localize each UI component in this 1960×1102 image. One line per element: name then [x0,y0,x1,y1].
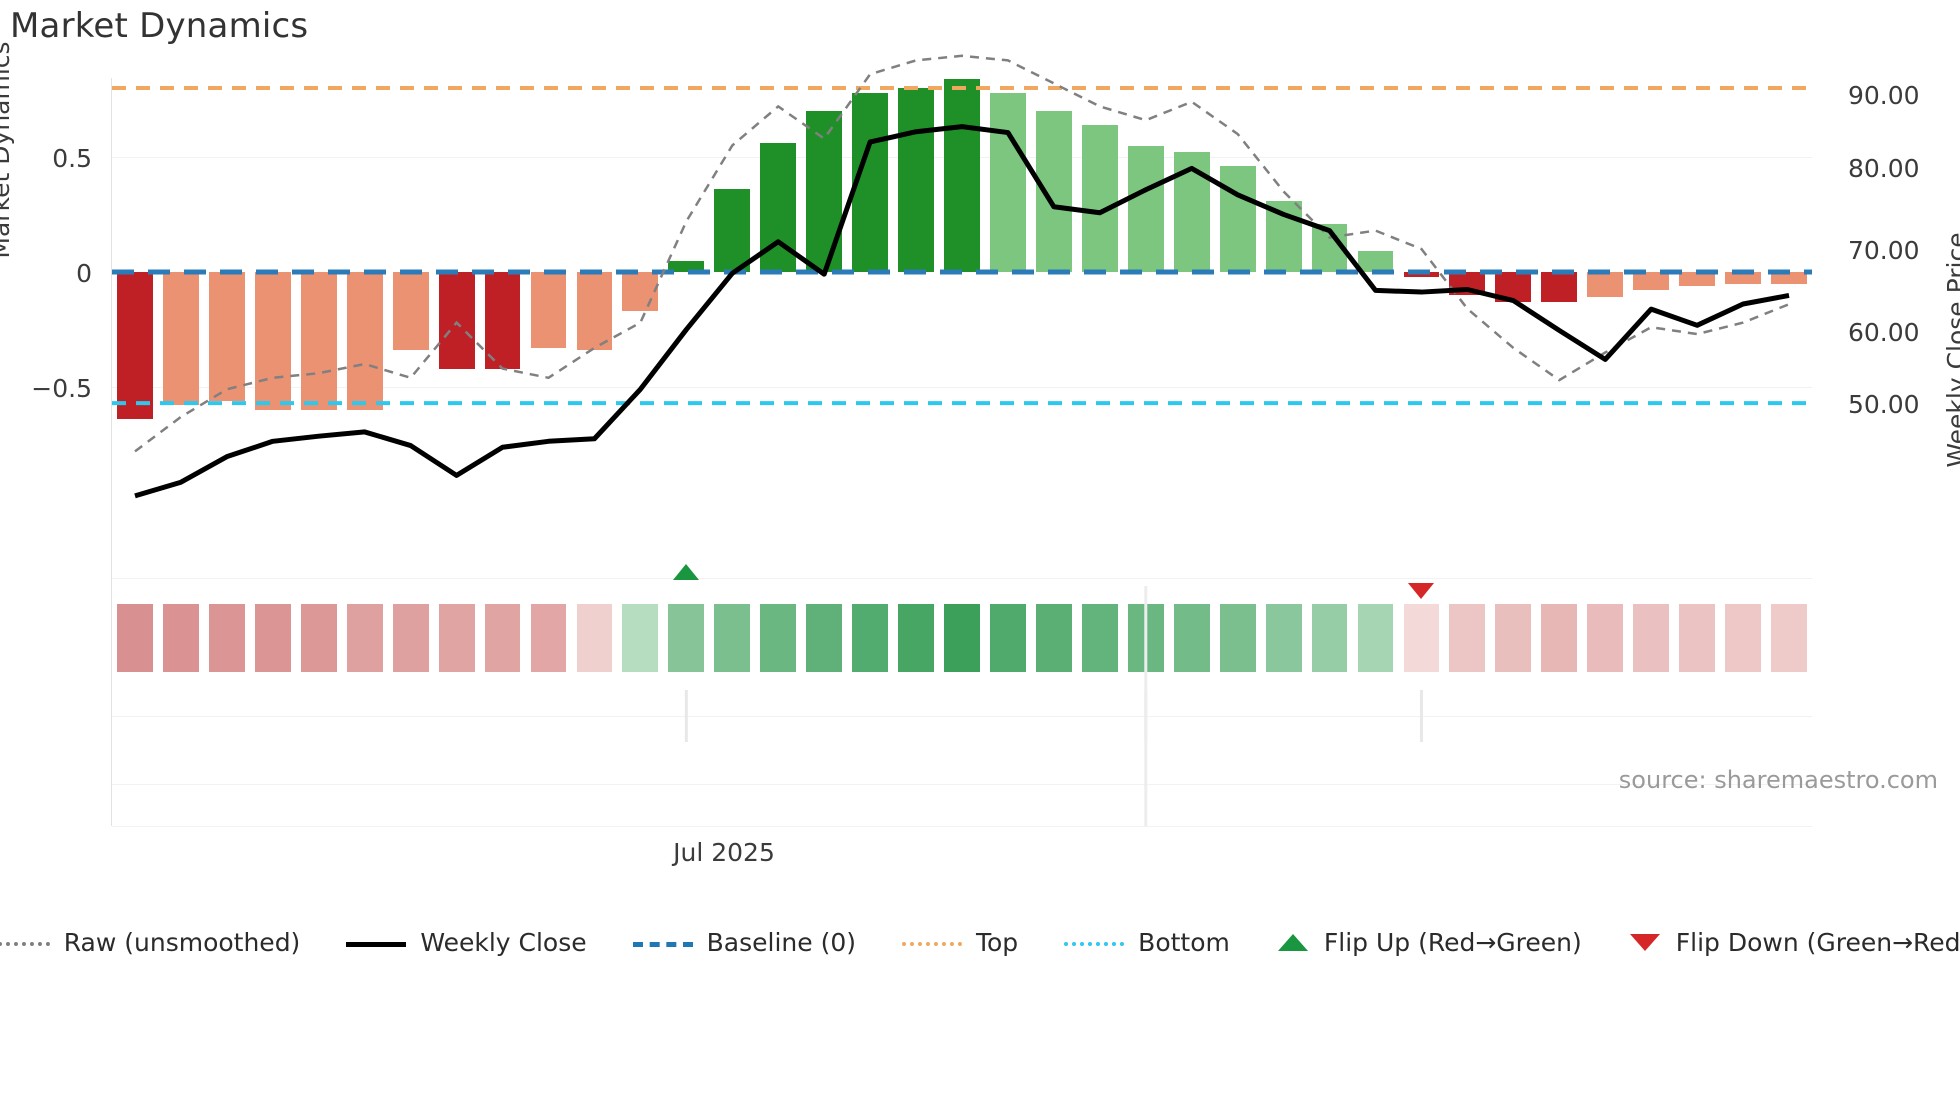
dashed-grey-line [0,934,50,952]
x-tick-jul-2025: Jul 2025 [673,838,775,867]
heatmap-cell-W37 [1771,604,1807,672]
heatmap-cell-W09 [485,604,521,672]
triangle-up-icon [1276,934,1310,952]
bar-W14 [714,189,750,272]
bar-W09 [485,272,521,369]
legend-item-3[interactable]: Top [902,928,1018,957]
legend-item-5[interactable]: Flip Up (Red→Green) [1276,928,1582,957]
y-axis-spine [111,78,112,826]
bar-W16 [806,111,842,272]
heatmap-cell-W32 [1541,604,1577,672]
dashed-blue-line [633,934,693,952]
y-tick-left-2: −0.5 [31,374,92,403]
bar-W21 [1036,111,1072,272]
bar-W13 [668,261,704,273]
bar-W01 [117,272,153,419]
heatmap-cell-W21 [1036,604,1072,672]
heatmap-cell-W13 [668,604,704,672]
bar-W37 [1771,272,1807,284]
y-tick-left-1: 0 [76,259,92,288]
flip-down-marker [1408,583,1434,599]
bar-W28 [1358,251,1394,272]
bar-W18 [898,88,934,272]
triangle-down-icon [1628,934,1662,952]
gridline-lower-1 [112,716,1812,717]
y-tick-right-4: 50.00 [1848,390,1920,419]
heatmap-cell-W36 [1725,604,1761,672]
heatmap-cell-W04 [255,604,291,672]
legend-label-5: Flip Up (Red→Green) [1324,928,1582,957]
heatmap-cell-W02 [163,604,199,672]
heatmap-cell-W17 [852,604,888,672]
heatmap-cell-W29 [1404,604,1440,672]
heatmap-cell-W06 [347,604,383,672]
bar-W30 [1449,272,1485,295]
y-axis-title-left: Market Dynamics [0,0,15,300]
heatmap-cell-W11 [577,604,613,672]
y-axis-title-right: Weekly Close Price [1942,140,1960,560]
y-tick-right-3: 60.00 [1848,318,1920,347]
bar-W32 [1541,272,1577,302]
bar-W08 [439,272,475,369]
heatmap-cell-W15 [760,604,796,672]
bar-W29 [1404,272,1440,277]
source-note: source: sharemaestro.com [1619,766,1938,794]
bar-W19 [944,79,980,272]
bar-W15 [760,143,796,272]
bar-W34 [1633,272,1669,290]
chart-legend: Raw (unsmoothed)Weekly CloseBaseline (0)… [0,928,1960,957]
gridline-strip-top [112,578,1812,579]
heatmap-cell-W35 [1679,604,1715,672]
bar-W35 [1679,272,1715,286]
legend-label-6: Flip Down (Green→Red) [1676,928,1960,957]
bar-W12 [622,272,658,311]
bar-W03 [209,272,245,401]
heatmap-cell-W34 [1633,604,1669,672]
solid-black-line [346,934,406,952]
heatmap-cell-W18 [898,604,934,672]
heatmap-cell-W24 [1174,604,1210,672]
legend-label-2: Baseline (0) [707,928,856,957]
bar-W23 [1128,146,1164,273]
y-tick-right-0: 90.00 [1848,81,1920,110]
bar-W27 [1312,224,1348,272]
legend-label-4: Bottom [1138,928,1230,957]
heatmap-cell-W08 [439,604,475,672]
legend-item-2[interactable]: Baseline (0) [633,928,856,957]
bar-W22 [1082,125,1118,272]
heatmap-cell-W30 [1449,604,1485,672]
heatmap-cell-W05 [301,604,337,672]
bar-W33 [1587,272,1623,297]
bar-W36 [1725,272,1761,284]
legend-item-6[interactable]: Flip Down (Green→Red) [1628,928,1960,957]
legend-item-1[interactable]: Weekly Close [346,928,586,957]
bar-W24 [1174,152,1210,272]
bar-W02 [163,272,199,405]
bar-W05 [301,272,337,410]
bar-W31 [1495,272,1531,302]
bar-W17 [852,93,888,272]
bar-W11 [577,272,613,350]
heatmap-cell-W14 [714,604,750,672]
heatmap-cell-W25 [1220,604,1256,672]
heatmap-cell-W03 [209,604,245,672]
heatmap-cell-W28 [1358,604,1394,672]
y-tick-left-0: 0.5 [52,144,92,173]
bar-W04 [255,272,291,410]
bar-W06 [347,272,383,410]
heatmap-cell-W20 [990,604,1026,672]
heatmap-cell-W01 [117,604,153,672]
dotted-orange-line [902,934,962,952]
bar-W20 [990,93,1026,272]
heatmap-cell-W19 [944,604,980,672]
chart-root: Market Dynamics 0.5 0 −0.5 90.00 80.00 7… [0,0,1960,1102]
heatmap-cell-W27 [1312,604,1348,672]
heatmap-cell-W22 [1082,604,1118,672]
legend-item-0[interactable]: Raw (unsmoothed) [0,928,300,957]
heatmap-cell-W10 [531,604,567,672]
bar-W07 [393,272,429,350]
heatmap-cell-W23 [1128,604,1164,672]
legend-label-0: Raw (unsmoothed) [64,928,301,957]
heatmap-cell-W31 [1495,604,1531,672]
bar-W25 [1220,166,1256,272]
dotted-cyan-line [1064,934,1124,952]
gridline-lower-2 [112,784,1812,785]
bar-W10 [531,272,567,348]
y-tick-right-2: 70.00 [1848,236,1920,265]
heatmap-cell-W12 [622,604,658,672]
gridline-lower-3 [112,826,1812,827]
heatmap-cell-W33 [1587,604,1623,672]
legend-label-3: Top [976,928,1018,957]
legend-label-1: Weekly Close [420,928,586,957]
page-title: Market Dynamics [10,6,308,46]
flip-up-marker [673,564,699,580]
heatmap-cell-W16 [806,604,842,672]
y-tick-right-1: 80.00 [1848,154,1920,183]
legend-item-4[interactable]: Bottom [1064,928,1230,957]
bar-W26 [1266,201,1302,272]
heatmap-cell-W26 [1266,604,1302,672]
heatmap-cell-W07 [393,604,429,672]
